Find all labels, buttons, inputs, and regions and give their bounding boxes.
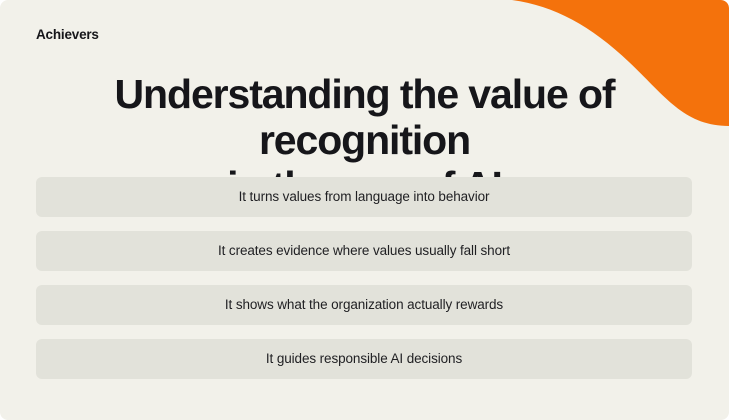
list-item-label: It creates evidence where values usually… xyxy=(218,244,510,258)
list-item-label: It turns values from language into behav… xyxy=(239,190,490,204)
list-item-label: It guides responsible AI decisions xyxy=(266,352,462,366)
key-points-list: It turns values from language into behav… xyxy=(36,177,692,379)
page-title-line-1: Understanding the value of recognition xyxy=(30,72,699,164)
list-item: It guides responsible AI decisions xyxy=(36,339,692,379)
brand-logo: Achievers xyxy=(36,28,99,42)
list-item-label: It shows what the organization actually … xyxy=(225,298,503,312)
list-item: It shows what the organization actually … xyxy=(36,285,692,325)
slide-canvas: Achievers Understanding the value of rec… xyxy=(0,0,729,420)
list-item: It turns values from language into behav… xyxy=(36,177,692,217)
list-item: It creates evidence where values usually… xyxy=(36,231,692,271)
